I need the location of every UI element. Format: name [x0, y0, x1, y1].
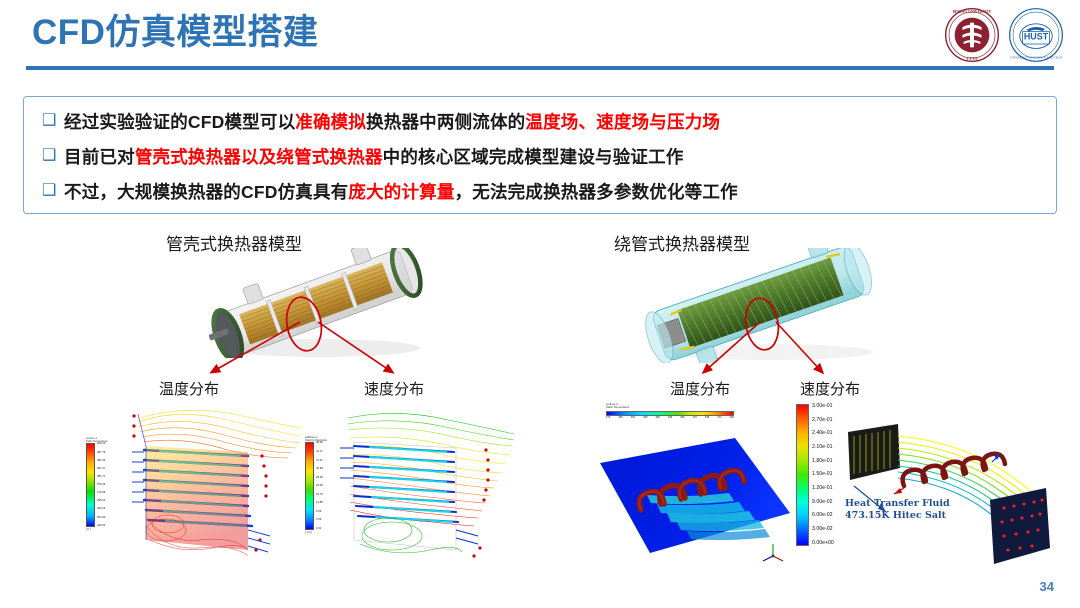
velocity-ticks: 49.36 44.27 37.97 32.88 29.48 23.48 18.7… [314, 442, 323, 530]
htf-line2: 473.15K Hitec Salt [845, 510, 950, 522]
velocity-unit: [ m/s ] [305, 531, 327, 534]
left-velocity-legend: pathlines-1 Velocity Magnitude 49.36 44.… [305, 436, 327, 534]
bullet-text-2: 目前已对管壳式换热器以及绕管式换热器中的核心区域完成模型建设与验证工作 [64, 142, 684, 172]
right-vel-caption: 速度分布 [800, 378, 860, 399]
shell-and-tube-hx-model [192, 248, 442, 358]
page-title: CFD仿真模型搭建 [32, 14, 318, 53]
bullet-marker-icon: ❑ [38, 107, 64, 135]
right-velocity-legend: 3.00e-01 2.70e-01 2.40e-01 2.10e-01 1.80… [796, 404, 834, 546]
left-vel-caption: 速度分布 [364, 378, 424, 399]
right-velocity-ticks: 3.00e-01 2.70e-01 2.40e-01 2.10e-01 1.80… [812, 404, 834, 546]
bullet-text-3: 不过，大规模换热器的CFD仿真具有庞大的计算量，无法完成换热器多参数优化等工作 [64, 177, 738, 207]
bullet-item: ❑ 目前已对管壳式换热器以及绕管式换热器中的核心区域完成模型建设与验证工作 [38, 142, 1042, 175]
legend-title-line2: Static Temperature [606, 406, 734, 409]
temperature-ticks: 400.10 387.79 382.43 387.07 381.71 376.3… [95, 443, 105, 527]
left-velocity-plot [336, 398, 526, 573]
heat-transfer-fluid-annotation: Heat Transfer Fluid 473.15K Hitec Salt [845, 498, 950, 522]
left-temp-caption: 温度分布 [159, 378, 219, 399]
right-temperature-plot [545, 418, 795, 568]
svg-text:· 1 8 9 8 ·: · 1 8 9 8 · [964, 57, 979, 61]
bullet-item: ❑ 经过实验验证的CFD模型可以准确模拟换热器中两侧流体的温度场、速度场与压力场 [38, 107, 1042, 140]
bullet-item: ❑ 不过，大规模换热器的CFD仿真具有庞大的计算量，无法完成换热器多参数优化等工… [38, 177, 1042, 210]
velocity-colorbar [305, 442, 314, 530]
svg-text:PEKING UNIVERSITY: PEKING UNIVERSITY [953, 10, 992, 14]
right-temperature-colorbar [606, 411, 734, 416]
bullet-text-1: 经过实验验证的CFD模型可以准确模拟换热器中两侧流体的温度场、速度场与压力场 [64, 107, 720, 137]
right-velocity-colorbar [796, 404, 809, 546]
right-temperature-ticks: 473 458 463 468 465 468 465 470 468 472 … [606, 416, 734, 419]
axis-triad-icon [763, 544, 783, 561]
htf-line1: Heat Transfer Fluid [845, 498, 950, 510]
peking-university-logo: PEKING UNIVERSITY · 1 8 9 8 · [944, 7, 1000, 63]
bullet-marker-icon: ❑ [38, 142, 64, 170]
page-number: 34 [1040, 579, 1054, 594]
temperature-unit: [ K ] [86, 528, 108, 531]
right-temperature-legend: contour-2 Static Temperature 473 458 463… [606, 403, 734, 419]
left-temperature-plot [130, 400, 310, 570]
key-points-box: ❑ 经过实验验证的CFD模型可以准确模拟换热器中两侧流体的温度场、速度场与压力场… [23, 96, 1057, 214]
left-temperature-legend: contour-1 Static Temperature 400.10 387.… [86, 437, 108, 531]
svg-text:HUST: HUST [1024, 31, 1049, 41]
slide-canvas: CFD仿真模型搭建 PEKING UNIVERSITY · 1 8 9 8 · [0, 0, 1080, 608]
right-temp-caption: 温度分布 [670, 378, 730, 399]
svg-text:UNIVERSITY OF SCIENCE AND TECH: UNIVERSITY OF SCIENCE AND TECH [1010, 56, 1062, 60]
title-underline [26, 66, 1054, 70]
bullet-marker-icon: ❑ [38, 177, 64, 205]
hust-logo: HUST UNIVERSITY OF SCIENCE AND TECH [1008, 7, 1064, 63]
logo-group: PEKING UNIVERSITY · 1 8 9 8 · HUST UNIVE… [894, 5, 1064, 65]
temperature-colorbar [86, 443, 95, 527]
coiled-tube-hx-model [628, 248, 898, 363]
